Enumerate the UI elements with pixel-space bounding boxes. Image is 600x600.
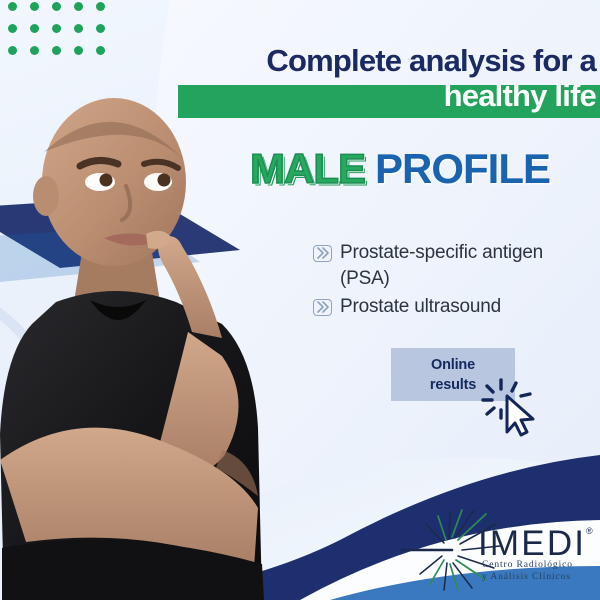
ad-banner: Complete analysis for a healthy life MAL…	[0, 0, 600, 600]
dot	[8, 2, 17, 11]
dot	[52, 2, 61, 11]
list-item: Prostate ultrasound	[313, 294, 593, 320]
click-cursor-icon	[477, 372, 543, 438]
dot-grid-decoration	[8, 2, 118, 64]
logo: IMEDI ® Centro Radiológico y Análisis Cl…	[400, 508, 596, 592]
page-title: MALEPROFILE	[250, 145, 600, 191]
dot	[74, 46, 83, 55]
list-item: Prostate-specific antigen (PSA)	[313, 240, 593, 292]
dot	[52, 24, 61, 33]
page-title-rest: PROFILE	[375, 145, 550, 192]
logo-wordmark: IMEDI	[478, 524, 586, 564]
dot	[8, 46, 17, 55]
list-item-label: Prostate-specific antigen (PSA)	[340, 240, 593, 292]
dot	[96, 24, 105, 33]
registered-mark: ®	[586, 526, 593, 536]
headline-line-2: healthy life	[180, 78, 600, 114]
dot	[74, 24, 83, 33]
dot	[96, 46, 105, 55]
double-chevron-icon	[313, 299, 332, 316]
dot	[30, 46, 39, 55]
service-list: Prostate-specific antigen (PSA) Prostate…	[313, 240, 593, 322]
logo-tagline-line-2: y Análisis Clínicos	[482, 572, 571, 582]
online-results-line-1: Online	[431, 355, 475, 375]
dot	[96, 2, 105, 11]
dot	[30, 2, 39, 11]
dot	[8, 24, 17, 33]
list-item-label: Prostate ultrasound	[340, 294, 501, 320]
headline: Complete analysis for a healthy life	[180, 44, 600, 114]
dot	[74, 2, 83, 11]
dot	[30, 24, 39, 33]
dot	[52, 46, 61, 55]
online-results-line-2: results	[430, 375, 476, 395]
double-chevron-icon	[313, 245, 332, 262]
logo-tagline-line-1: Centro Radiológico	[482, 560, 573, 570]
man-thinking-photo	[0, 56, 302, 600]
page-title-highlight: MALE	[250, 145, 365, 192]
headline-line-1: Complete analysis for a	[180, 44, 600, 78]
